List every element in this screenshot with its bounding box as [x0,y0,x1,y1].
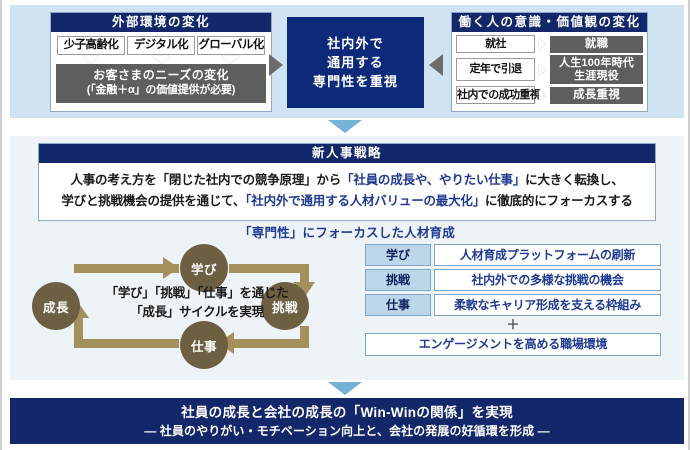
section-environment-drivers: 外部環境の変化 少子高齢化 デジタル化 グローバル化 お客さまのニーズの変化 (… [10,5,684,118]
pillar-key-learning: 学び [365,244,431,266]
card-expertise-focus: 社内外で 通用する 専門性を重視 [287,17,424,108]
worker-values-row: 就社 就職 [456,35,643,53]
triangle-down-icon [222,56,240,63]
pillar-value-work: 柔軟なキャリア形成を支える枠組み [434,294,661,316]
worker-values-row: 定年で引退 人生100年時代 生涯現役 [456,55,643,84]
cycle-bar-top-right [229,264,309,273]
worker-values-row: 社内での成功重視 成長重視 [456,86,643,104]
growth-cycle-diagram: 学び 挑戦 仕事 成長 「学び」「挑戦」「仕事」を通じた 「成長」サイクルを実現 [32,240,362,372]
pillar-row-challenge: 挑戦 社内外での多様な挑戦の機会 [365,269,661,291]
strategy-body-text: 人事の考え方を「閉じた社内での競争原理」から「社員の成長や、やりたい仕事」に大き… [39,163,655,220]
cycle-bar-bottom-right [229,339,309,348]
pillar-footer-engagement: エンゲージメントを高める職場環境 [365,333,661,356]
talent-development-subtitle: 「専門性」にフォーカスした人材育成 [10,222,684,241]
worker-value-new-1: 就職 [550,36,643,53]
outcome-banner-line1: 社員の成長と会社の成長の「Win-Winの関係」を実現 [181,403,513,422]
pillar-row-work: 仕事 柔軟なキャリア形成を支える枠組み [365,294,661,316]
strategy-line-1: 人事の考え方を「閉じた社内での競争原理」から「社員の成長や、やりたい仕事」に大き… [45,170,649,191]
cycle-caption: 「学び」「挑戦」「仕事」を通じた 「成長」サイクルを実現 [82,284,312,322]
diagram-canvas: 外部環境の変化 少子高齢化 デジタル化 グローバル化 お客さまのニーズの変化 (… [0,0,690,450]
card-external-environment: 外部環境の変化 少子高齢化 デジタル化 グローバル化 お客さまのニーズの変化 (… [50,12,272,112]
connector-arrow-down-bottom-icon [328,382,362,395]
arrow-right-to-center-icon [429,54,443,76]
cycle-caption-line2: 「成長」サイクルを実現 [82,303,312,322]
arrow-cell-aging [57,56,125,63]
worker-value-new-2-line2: 生涯現役 [550,70,643,83]
strategy-line-1-b: に大きく転換し、 [525,173,623,187]
worker-value-new-2-line1: 人生100年時代 [550,57,643,70]
cycle-node-growth: 成長 [32,282,80,330]
triangle-down-icon [152,56,170,63]
cycle-node-work: 仕事 [180,321,228,369]
arrow-cell-digital [127,56,195,63]
worker-value-old-3: 社内での成功重視 [456,86,535,104]
worker-value-old-1: 就社 [456,35,535,53]
external-driver-chip-global: グローバル化 [197,36,265,55]
strategy-line-2-highlight: 「社内外で通用する人材バリューの最大化」 [245,194,485,208]
strategy-line-1-a: 人事の考え方を「閉じた社内での競争原理」から [70,173,341,187]
hr-pillar-table: 学び 人材育成プラットフォームの刷新 挑戦 社内外での多様な挑戦の機会 仕事 柔… [365,244,661,356]
external-driver-arrow-row [51,55,271,63]
pillar-value-learning: 人材育成プラットフォームの刷新 [434,244,661,266]
pillar-value-challenge: 社内外での多様な挑戦の機会 [434,269,661,291]
expertise-line2: 通用する [313,53,398,72]
section-new-hr-strategy: 新人事戦略 人事の考え方を「閉じた社内での競争原理」から「社員の成長や、やりたい… [10,136,684,380]
pillar-plus-sign: ＋ [365,319,661,331]
expertise-line3: 専門性を重視 [313,72,398,91]
strategy-line-2-a: 学びと挑戦機会の提供を通じて、 [61,194,245,208]
strategy-line-2: 学びと挑戦機会の提供を通じて、「社内外で通用する人材バリューの最大化」に徹底的に… [45,191,649,212]
cycle-arrowhead-to-learning [163,257,179,279]
pillar-key-challenge: 挑戦 [365,269,431,291]
card-worker-values-title: 働く人の意識・価値観の変化 [452,13,647,32]
worker-values-row-list: 就社 就職 定年で引退 人生100年時代 生涯現役 社内での成功重視 成長重視 [452,32,647,104]
triangle-down-icon [82,56,100,63]
strategy-line-2-b: に徹底的にフォーカスする [485,194,633,208]
external-driver-chip-list: 少子高齢化 デジタル化 グローバル化 [51,32,271,55]
card-strategy-statement: 新人事戦略 人事の考え方を「閉じた社内での競争原理」から「社員の成長や、やりたい… [38,143,656,221]
triangle-right-icon [539,39,546,49]
outcome-banner: 社員の成長と会社の成長の「Win-Winの関係」を実現 — 社員のやりがい・モチ… [10,398,684,444]
arrow-left-to-center-icon [269,54,283,76]
arrow-cell-global [197,56,265,63]
cycle-bar-left-up [74,318,83,348]
external-driver-chip-aging: 少子高齢化 [57,36,125,55]
pillar-row-learning: 学び 人材育成プラットフォームの刷新 [365,244,661,266]
external-driver-chip-digital: デジタル化 [127,36,195,55]
customer-needs-line2: (「金融＋α」の価値提供が必要) [56,83,266,98]
strategy-line-1-highlight: 「社員の成長や、やりたい仕事」 [341,173,525,187]
worker-value-new-2: 人生100年時代 生涯現役 [550,55,643,84]
triangle-right-icon [539,90,546,100]
expertise-line1: 社内外で [313,34,398,53]
expertise-focus-text: 社内外で 通用する 専門性を重視 [313,34,398,91]
pillar-key-work: 仕事 [365,294,431,316]
worker-value-old-2: 定年で引退 [456,58,535,81]
customer-needs-band: お客さまのニーズの変化 (「金融＋α」の価値提供が必要) [56,64,266,103]
card-worker-values: 働く人の意識・価値観の変化 就社 就職 定年で引退 人生100年時代 生涯現役 [451,12,648,112]
cycle-bar-bottom [74,339,179,348]
connector-arrow-down-top-icon [328,120,362,133]
triangle-right-icon [539,65,546,75]
cycle-caption-line1: 「学び」「挑戦」「仕事」を通じた [82,284,312,303]
card-strategy-title: 新人事戦略 [39,144,655,163]
card-external-environment-title: 外部環境の変化 [51,13,271,32]
customer-needs-line1: お客さまのニーズの変化 [56,68,266,83]
worker-value-new-3: 成長重視 [550,87,643,104]
outcome-banner-line2: — 社員のやりがい・モチベーション向上と、会社の発展の好循環を形成 — [144,422,549,440]
